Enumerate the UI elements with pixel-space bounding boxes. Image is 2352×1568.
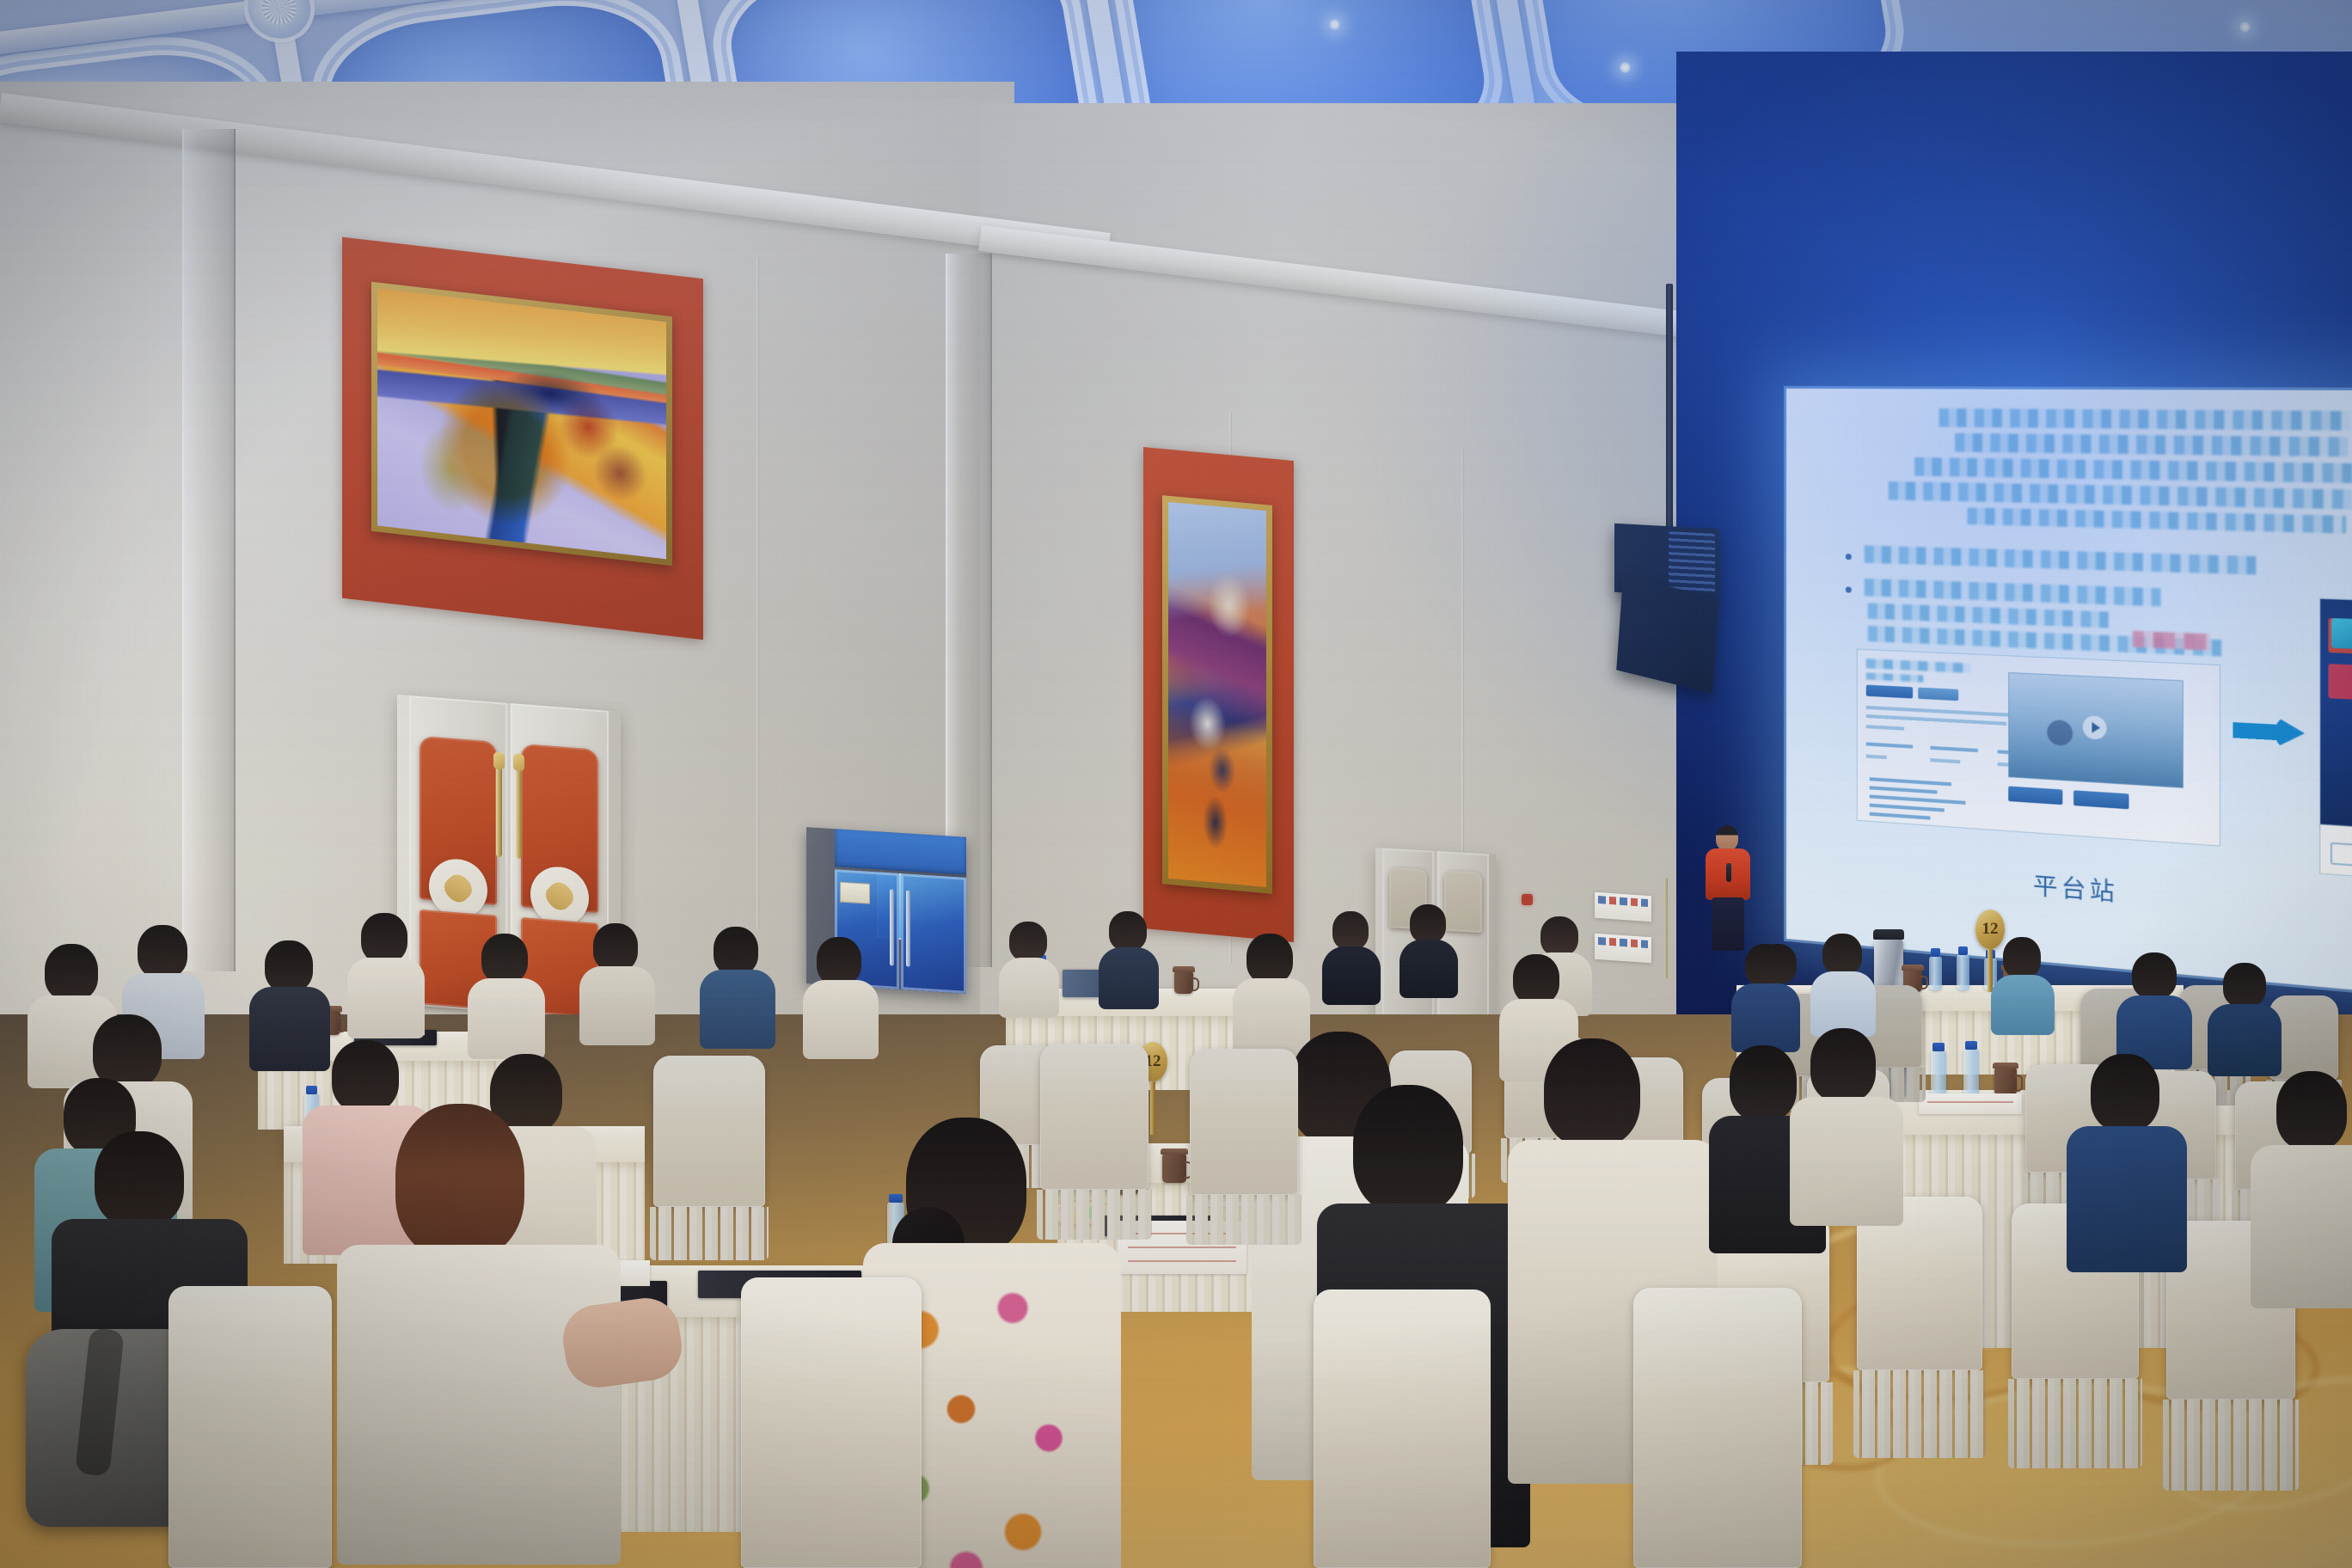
ceiling-downlight [1329, 19, 1340, 30]
abstract-vertical-painting [1162, 495, 1272, 894]
door-handle[interactable] [516, 766, 522, 860]
projected-slide: 平台站 [1786, 389, 2352, 993]
wall-sign-bracket [1664, 879, 1668, 978]
chiller-door-right[interactable] [901, 873, 966, 993]
projection-screen: 平台站 [1786, 389, 2352, 993]
tea-mug [1994, 1068, 2017, 1095]
banquet-chair [1190, 1049, 1298, 1195]
banquet-chair [1633, 1288, 1802, 1568]
presenter-skirt [1712, 897, 1744, 951]
speaker-mount-pole [1666, 284, 1673, 540]
water-bottle [1957, 954, 1969, 990]
phone-base-card [2320, 824, 2352, 883]
wall-pilaster [182, 129, 236, 971]
banquet-chair [1040, 1044, 1148, 1190]
banquet-chair [653, 1056, 765, 1207]
table-number-label: 12 [1975, 910, 2005, 949]
water-bottle [1929, 956, 1942, 990]
card-action-button[interactable] [2008, 786, 2062, 805]
slide-bullet [1846, 586, 1852, 592]
conference-hall-photo: 平台站 12 [0, 0, 2352, 1568]
handheld-microphone [1726, 863, 1731, 882]
banquet-chair [1314, 1289, 1491, 1568]
thermos-jug [1874, 939, 1903, 990]
video-thumbnail [2008, 672, 2184, 788]
wall-seam [756, 258, 759, 928]
presenter [1704, 825, 1754, 954]
mobile-app-screenshot-card [2320, 599, 2352, 838]
water-bottle [1931, 1050, 1946, 1095]
chiller-handle[interactable] [890, 889, 894, 965]
wall-sign-panel [1595, 934, 1651, 964]
banquet-chair [741, 1277, 922, 1568]
webpage-screenshot-card [1858, 650, 2220, 846]
ceiling-downlight [1620, 62, 1631, 73]
chiller-header-panel [835, 829, 966, 874]
tea-mug [1174, 971, 1193, 994]
ceiling-downlight [2239, 21, 2251, 33]
slide-bullet [1846, 554, 1852, 560]
fire-alarm-indicator [1522, 894, 1533, 905]
chiller-handle[interactable] [906, 891, 910, 967]
water-bottle [1963, 1049, 1979, 1095]
presenter-head [1716, 825, 1738, 851]
card-action-button[interactable] [2073, 790, 2128, 809]
app-banner [2329, 664, 2352, 704]
app-icon-tile [2331, 618, 2352, 649]
slide-caption: 平台站 [1786, 848, 2352, 930]
door-handle[interactable] [496, 764, 502, 858]
tea-mug [1162, 1154, 1186, 1183]
chiller-notice-label [840, 881, 869, 903]
notepaper [1919, 1093, 2022, 1114]
slide-highlight [2133, 631, 2210, 651]
wall-sign-panel [1595, 892, 1651, 922]
flow-arrow-right-icon [2233, 714, 2305, 749]
ceiling-rosette [243, 0, 315, 42]
abstract-landscape-painting [371, 282, 672, 566]
play-icon [2083, 715, 2107, 740]
banquet-chair [168, 1286, 332, 1568]
